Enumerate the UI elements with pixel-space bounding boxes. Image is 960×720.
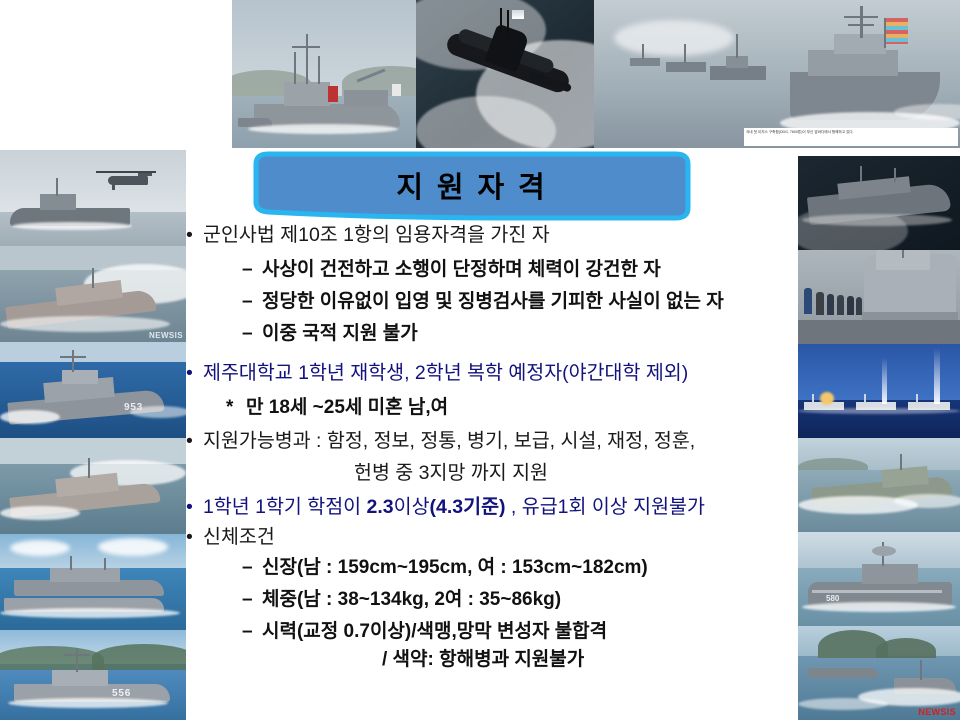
content-line: / 색약: 항해병과 지원불가 — [382, 650, 584, 669]
slide-canvas: 국내 첫 이지스 구축함(DDG, 7600톤)이 부산 앞바다에서 항해하고 … — [0, 0, 960, 720]
content-line: –체중(남 : 38~134kg, 2여 : 35~86kg) — [242, 590, 561, 609]
content-line-text: 체중(남 : 38~134kg, 2여 : 35~86kg) — [262, 589, 561, 610]
photo-destroyer-bow-wave — [0, 438, 186, 534]
photo-corvette-556: 556 — [0, 630, 186, 720]
photo-patrol-boat-coastline: NEWSIS — [798, 626, 960, 720]
photo-caption: 국내 첫 이지스 구축함(DDG, 7600톤)이 부산 앞바다에서 항해하고 … — [744, 128, 958, 146]
watermark-newsis-left: NEWSIS — [149, 331, 183, 340]
content-line-text: 군인사법 제10조 1항의 임용자격을 가진 자 — [203, 224, 550, 246]
sub-bullet-marker: – — [242, 292, 262, 311]
content-line-text: 시력(교정 0.7이상)/색맹,망막 변성자 불합격 — [262, 621, 607, 642]
hull-number-580: 580 — [826, 594, 839, 603]
content-line: –시력(교정 0.7이상)/색맹,망막 변성자 불합격 — [242, 622, 607, 641]
content-line: –사상이 건전하고 소행이 단정하며 체력이 강건한 자 — [242, 260, 661, 279]
photo-frigate-953: 953 — [0, 342, 186, 438]
content-line-text: 지원가능병과 : 함정, 정보, 정통, 병기, 보급, 시설, 재정, 정훈, — [203, 430, 695, 452]
banner-title: 지 원 자 격 — [252, 150, 692, 222]
bullet-marker: • — [186, 528, 203, 548]
content-line: 헌병 중 3지망 까지 지원 — [354, 464, 548, 484]
hull-number-953: 953 — [124, 402, 143, 413]
photo-sailors-on-deck — [798, 250, 960, 344]
photo-destroyer-underway: NEWSIS — [0, 246, 186, 342]
content-line: –이중 국적 지원 불가 — [242, 324, 418, 343]
content-line: •1학년 1학기 학점이 2.3이상(4.3기준) , 유급1회 이상 지원불가 — [186, 498, 705, 518]
content-line-text: 헌병 중 3지망 까지 지원 — [354, 462, 548, 484]
watermark-newsis-bottom: NEWSIS — [918, 707, 956, 717]
bullet-marker: • — [186, 364, 203, 384]
sub-bullet-marker: – — [242, 324, 262, 343]
sub-bullet-marker: – — [242, 622, 262, 641]
photo-destroyer-formation: 국내 첫 이지스 구축함(DDG, 7600톤)이 부산 앞바다에서 항해하고 … — [594, 0, 960, 148]
content-line-text: 제주대학교 1학년 재학생, 2학년 복학 예정자(야간대학 제외) — [203, 362, 688, 384]
photo-destroyer-aerial-view — [798, 156, 960, 250]
content-line-text: 이중 국적 지원 불가 — [262, 323, 418, 344]
content-line-text: 만 18세 ~25세 미혼 남,여 — [246, 397, 448, 418]
sub-bullet-marker: – — [242, 558, 262, 577]
photo-minesweeper-support-ship — [232, 0, 416, 148]
content-line-text: 정당한 이유없이 입영 및 징병검사를 기피한 사실이 없는 자 — [262, 291, 724, 312]
hull-number-556: 556 — [112, 688, 131, 699]
content-line: *만 18세 ~25세 미혼 남,여 — [226, 398, 448, 417]
content-line: –신장(남 : 159cm~195cm, 여 : 153cm~182cm) — [242, 558, 648, 577]
content-line-text: / 색약: 항해병과 지원불가 — [382, 649, 584, 670]
content-line-text: 신장(남 : 159cm~195cm, 여 : 153cm~182cm) — [262, 557, 648, 578]
photo-submarine-surfaced — [416, 0, 594, 148]
photo-two-ships-formation — [0, 534, 186, 630]
photo-fast-patrol-boat — [798, 438, 960, 532]
photo-landing-ship-580: 580 — [798, 532, 960, 626]
content-line: •군인사법 제10조 1항의 임용자격을 가진 자 — [186, 226, 550, 246]
content-line: •신체조건 — [186, 528, 275, 548]
content-line: •지원가능병과 : 함정, 정보, 정통, 병기, 보급, 시설, 재정, 정훈… — [186, 432, 695, 452]
content-line-text: 사상이 건전하고 소행이 단정하며 체력이 강건한 자 — [262, 259, 661, 280]
photo-missile-launch-sequence — [798, 344, 960, 438]
sub-bullet-marker: – — [242, 590, 262, 609]
photo-landing-ship-with-helicopter — [0, 150, 186, 246]
content-line: •제주대학교 1학년 재학생, 2학년 복학 예정자(야간대학 제외) — [186, 364, 688, 384]
content-line-text: 신체조건 — [203, 526, 275, 548]
sub-bullet-marker: * — [226, 398, 246, 417]
content-line: –정당한 이유없이 입영 및 징병검사를 기피한 사실이 없는 자 — [242, 292, 724, 311]
bullet-marker: • — [186, 432, 203, 452]
bullet-marker: • — [186, 226, 203, 246]
title-banner: 지 원 자 격 — [252, 150, 692, 222]
content-line-text: 1학년 1학기 학점이 2.3이상(4.3기준) , 유급1회 이상 지원불가 — [203, 496, 705, 518]
sub-bullet-marker: – — [242, 260, 262, 279]
bullet-marker: • — [186, 498, 203, 518]
